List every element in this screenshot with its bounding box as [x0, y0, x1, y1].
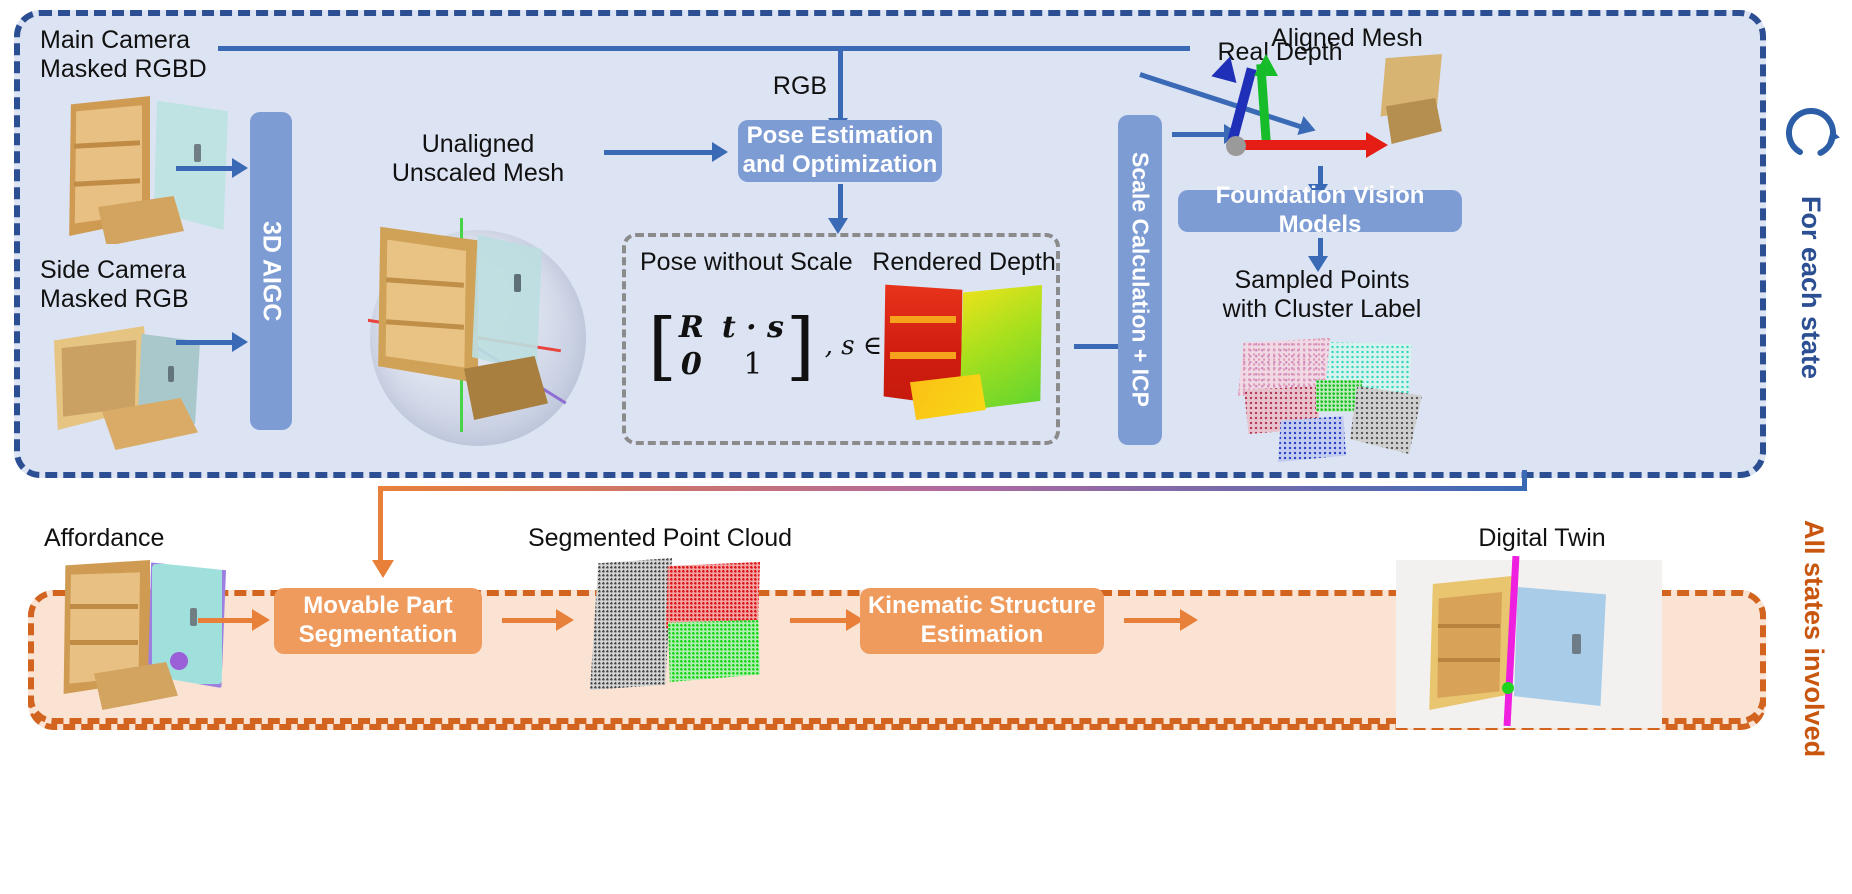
segmented-point-cloud-caption: Segmented Point Cloud	[500, 524, 820, 553]
affordance-image	[56, 556, 246, 712]
arrow-segmented-to-kinematic-line	[790, 618, 846, 623]
block-pose-estimation-line2: and Optimization	[743, 151, 938, 178]
affordance-caption: Affordance	[44, 524, 244, 553]
block-3d-aigc-label: 3D AIGC	[257, 221, 286, 321]
block-kinematic-line2: Estimation	[921, 621, 1044, 648]
sampled-points-line2: with Cluster Label	[1223, 295, 1422, 323]
connector-down-left-head	[372, 560, 394, 578]
digital-twin-caption: Digital Twin	[1432, 524, 1652, 553]
rgb-feed-line	[218, 46, 1190, 51]
arrow-affordance-to-movable-line	[198, 618, 252, 623]
arrow-pose-to-group-head	[828, 218, 848, 234]
arrow-scale-to-aligned-line	[1172, 132, 1224, 137]
matrix-ts: t · s	[722, 310, 784, 345]
arrow-kinematic-to-twin-head	[1180, 609, 1198, 631]
connector-down-left	[378, 486, 383, 564]
unaligned-mesh-line2: Unscaled Mesh	[392, 159, 564, 187]
unaligned-mesh-image	[368, 218, 588, 446]
rendered-depth-image	[882, 282, 1042, 422]
main-camera-line2: Masked RGBD	[40, 55, 207, 83]
side-camera-rgb-image	[48, 318, 248, 454]
sampled-point-cloud-image	[1238, 338, 1436, 466]
all-states-involved-label: All states involved	[1798, 520, 1829, 764]
unaligned-mesh-line1: Unaligned	[422, 130, 535, 158]
for-each-state-label: For each state	[1795, 196, 1826, 386]
arrow-kinematic-to-twin-line	[1124, 618, 1180, 623]
pose-matrix: R t · s 0 1	[677, 310, 786, 382]
bracket-left: [	[648, 316, 677, 377]
block-3d-aigc[interactable]: 3D AIGC	[250, 112, 292, 430]
unaligned-mesh-caption: UnalignedUnscaled Mesh	[352, 130, 604, 188]
diagram-canvas: For each state Main CameraMasked RGBD Si…	[0, 0, 1852, 894]
digital-twin-image	[1396, 560, 1662, 728]
sampled-points-caption: Sampled Pointswith Cluster Label	[1208, 266, 1436, 324]
block-scale-calculation-label: Scale Calculation + ICP	[1127, 152, 1154, 407]
main-camera-line1: Main Camera	[40, 26, 190, 54]
pose-without-scale-caption: Pose without Scale	[640, 248, 840, 277]
bracket-right: ]	[786, 316, 815, 377]
segmented-point-cloud-image	[590, 558, 766, 692]
block-pose-estimation[interactable]: Pose Estimation and Optimization	[738, 120, 942, 182]
block-scale-calculation[interactable]: Scale Calculation + ICP	[1118, 115, 1162, 445]
arrow-main-to-aigc-head	[232, 158, 248, 178]
arrow-main-to-aigc-line	[176, 166, 232, 171]
arrow-affordance-to-movable-head	[252, 609, 270, 631]
block-movable-part-line2: Segmentation	[299, 621, 458, 648]
rgb-branch-line	[838, 46, 843, 122]
side-camera-line2: Masked RGB	[40, 285, 189, 313]
rgb-edge-label: RGB	[770, 72, 830, 101]
for-each-state-text: For each state	[1795, 196, 1826, 379]
arrow-side-to-aigc-head	[232, 332, 248, 352]
block-kinematic-line1: Kinematic Structure	[868, 592, 1096, 619]
all-states-involved-text: All states involved	[1798, 520, 1829, 757]
arrow-pose-to-group-line	[838, 184, 843, 222]
block-foundation-vision-models[interactable]: Foundation Vision Models	[1178, 190, 1462, 232]
arrow-mesh-to-pose-head	[712, 142, 728, 162]
arrow-movable-to-segmented-line	[502, 618, 556, 623]
main-camera-caption: Main CameraMasked RGBD	[40, 26, 300, 84]
matrix-r: R	[679, 310, 704, 345]
block-movable-part-segmentation[interactable]: Movable Part Segmentation	[274, 588, 482, 654]
block-kinematic-structure-estimation[interactable]: Kinematic Structure Estimation	[860, 588, 1104, 654]
rendered-depth-caption: Rendered Depth	[866, 248, 1062, 277]
aligned-mesh-caption: Aligned Mesh	[1222, 24, 1472, 53]
refresh-loop-icon	[1778, 100, 1844, 166]
arrow-side-to-aigc-line	[176, 340, 232, 345]
aligned-mesh-image	[1228, 62, 1458, 172]
block-foundation-vision-label: Foundation Vision Models	[1178, 182, 1462, 240]
matrix-zero: 0	[679, 347, 704, 382]
side-camera-line1: Side Camera	[40, 256, 186, 284]
block-movable-part-line1: Movable Part	[303, 592, 452, 619]
panel-connector-line	[378, 486, 1527, 491]
arrow-mesh-to-pose-line	[604, 150, 712, 155]
arrow-movable-to-segmented-head	[556, 609, 574, 631]
connector-down-right	[1522, 470, 1527, 490]
block-pose-estimation-line1: Pose Estimation	[747, 122, 934, 149]
sampled-points-line1: Sampled Points	[1234, 266, 1409, 294]
matrix-one: 1	[722, 347, 784, 382]
